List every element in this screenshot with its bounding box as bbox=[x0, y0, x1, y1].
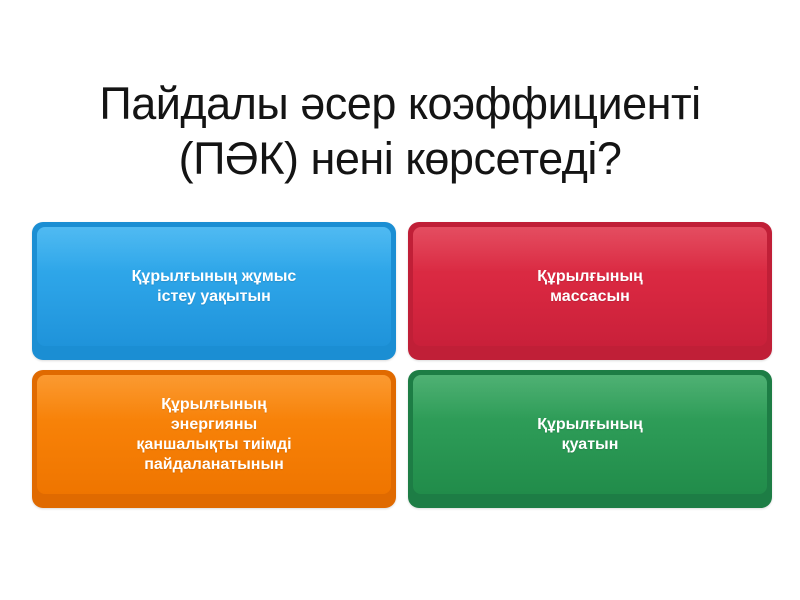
question-title: Пайдалы әсер коэффициенті (ПӘК) нені көр… bbox=[0, 76, 800, 186]
answer-option-c-label: Құрылғының энергияны қаншалықты тиімді п… bbox=[51, 395, 377, 475]
answer-options-grid: Құрылғының жұмыс істеу уақытын Құрылғыны… bbox=[32, 222, 772, 512]
answer-option-c-face: Құрылғының энергияны қаншалықты тиімді п… bbox=[37, 375, 391, 494]
answer-option-b-face: Құрылғының массасын bbox=[413, 227, 767, 346]
answer-option-d-face: Құрылғының қуатын bbox=[413, 375, 767, 494]
answer-option-b-label: Құрылғының массасын bbox=[427, 267, 753, 307]
answer-option-b[interactable]: Құрылғының массасын bbox=[408, 222, 772, 360]
answer-option-a-label: Құрылғының жұмыс істеу уақытын bbox=[51, 267, 377, 307]
answer-option-a[interactable]: Құрылғының жұмыс істеу уақытын bbox=[32, 222, 396, 360]
quiz-slide: Пайдалы әсер коэффициенті (ПӘК) нені көр… bbox=[0, 0, 800, 600]
answer-option-d-label: Құрылғының қуатын bbox=[427, 415, 753, 455]
answer-option-a-face: Құрылғының жұмыс істеу уақытын bbox=[37, 227, 391, 346]
answer-option-d[interactable]: Құрылғының қуатын bbox=[408, 370, 772, 508]
answer-option-c[interactable]: Құрылғының энергияны қаншалықты тиімді п… bbox=[32, 370, 396, 508]
question-container: Пайдалы әсер коэффициенті (ПӘК) нені көр… bbox=[0, 76, 800, 186]
